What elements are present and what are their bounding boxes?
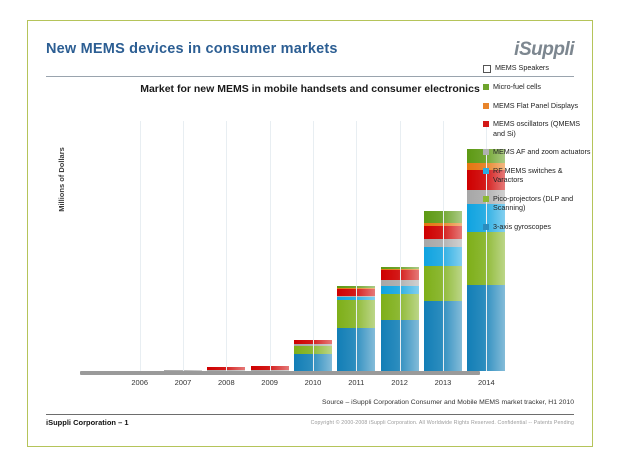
legend-item[interactable]: Pico-projectors (DLP and Scanning)	[483, 194, 591, 213]
gridline	[270, 121, 271, 371]
legend-item-label: RF MEMS switches & Varactors	[493, 166, 591, 185]
x-axis-tick-label: 2008	[207, 378, 245, 387]
chart-legend: MEMS SpeakersMicro-fuel cellsMEMS Flat P…	[483, 63, 591, 240]
x-axis-tick-label: 2011	[337, 378, 375, 387]
legend-item[interactable]: MEMS oscillators (QMEMS and Si)	[483, 119, 591, 138]
legend-swatch-icon	[483, 103, 489, 109]
legend-item[interactable]: 3-axis gyroscopes	[483, 222, 591, 232]
legend-item[interactable]: MEMS Flat Panel Displays	[483, 101, 591, 111]
isuppli-logo: iSuppli	[514, 39, 574, 61]
legend-item-label: MEMS oscillators (QMEMS and Si)	[493, 119, 591, 138]
source-note: Source – iSuppli Corporation Consumer an…	[322, 399, 574, 406]
footer-copyright: Copyright © 2000-2008 iSuppli Corporatio…	[311, 420, 574, 426]
legend-item[interactable]: RF MEMS switches & Varactors	[483, 166, 591, 185]
gridline	[140, 121, 141, 371]
legend-swatch-icon	[483, 65, 491, 73]
legend-swatch-icon	[483, 224, 489, 230]
legend-item[interactable]: MEMS AF and zoom actuators	[483, 147, 591, 157]
gridline	[183, 121, 184, 371]
legend-swatch-icon	[483, 121, 489, 127]
x-axis-tick-label: 2010	[294, 378, 332, 387]
legend-swatch-icon	[483, 149, 489, 155]
x-axis-baseline	[80, 371, 480, 375]
x-axis-ticks: 200620072008200920102011201220132014	[118, 378, 508, 387]
legend-item[interactable]: MEMS Speakers	[483, 63, 591, 73]
plot-area	[118, 121, 508, 371]
legend-item-label: MEMS Speakers	[495, 63, 549, 73]
legend-swatch-icon	[483, 84, 489, 90]
footer-page-label: iSuppli Corporation – 1	[46, 418, 129, 427]
gridline	[356, 121, 357, 371]
legend-item[interactable]: Micro-fuel cells	[483, 82, 591, 92]
x-axis-tick-label: 2014	[467, 378, 505, 387]
x-axis-tick-label: 2009	[251, 378, 289, 387]
slide-frame: New MEMS devices in consumer markets iSu…	[27, 20, 593, 447]
gridline	[443, 121, 444, 371]
legend-item-label: Pico-projectors (DLP and Scanning)	[493, 194, 591, 213]
legend-item-label: 3-axis gyroscopes	[493, 222, 551, 232]
footer-divider	[46, 414, 574, 415]
gridline	[400, 121, 401, 371]
legend-item-label: MEMS Flat Panel Displays	[493, 101, 578, 111]
x-axis-tick-label: 2006	[121, 378, 159, 387]
x-axis-tick-label: 2012	[381, 378, 419, 387]
legend-item-label: MEMS AF and zoom actuators	[493, 147, 590, 157]
x-axis-tick-label: 2007	[164, 378, 202, 387]
x-axis-tick-label: 2013	[424, 378, 462, 387]
page-title: New MEMS devices in consumer markets	[46, 41, 338, 57]
gridline	[313, 121, 314, 371]
legend-item-label: Micro-fuel cells	[493, 82, 541, 92]
gridline	[226, 121, 227, 371]
legend-swatch-icon	[483, 196, 489, 202]
legend-swatch-icon	[483, 168, 489, 174]
